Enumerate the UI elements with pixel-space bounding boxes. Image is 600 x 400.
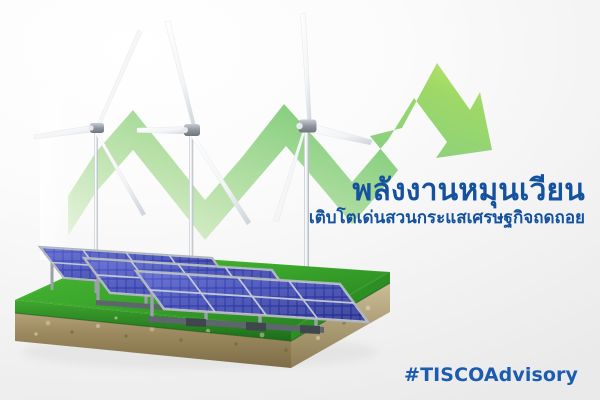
page-subtitle: เติบโตเด่นสวนกระแสเศรษฐกิจถดถอย	[165, 210, 585, 228]
poster-canvas: พลังงานหมุนเวียน เติบโตเด่นสวนกระแสเศรษฐ…	[0, 0, 600, 400]
hashtag-tisco-advisory[interactable]: #TISCOAdvisory	[404, 364, 578, 386]
headline-block: พลังงานหมุนเวียน เติบโตเด่นสวนกระแสเศรษฐ…	[165, 176, 585, 227]
page-title: พลังงานหมุนเวียน	[165, 176, 585, 207]
